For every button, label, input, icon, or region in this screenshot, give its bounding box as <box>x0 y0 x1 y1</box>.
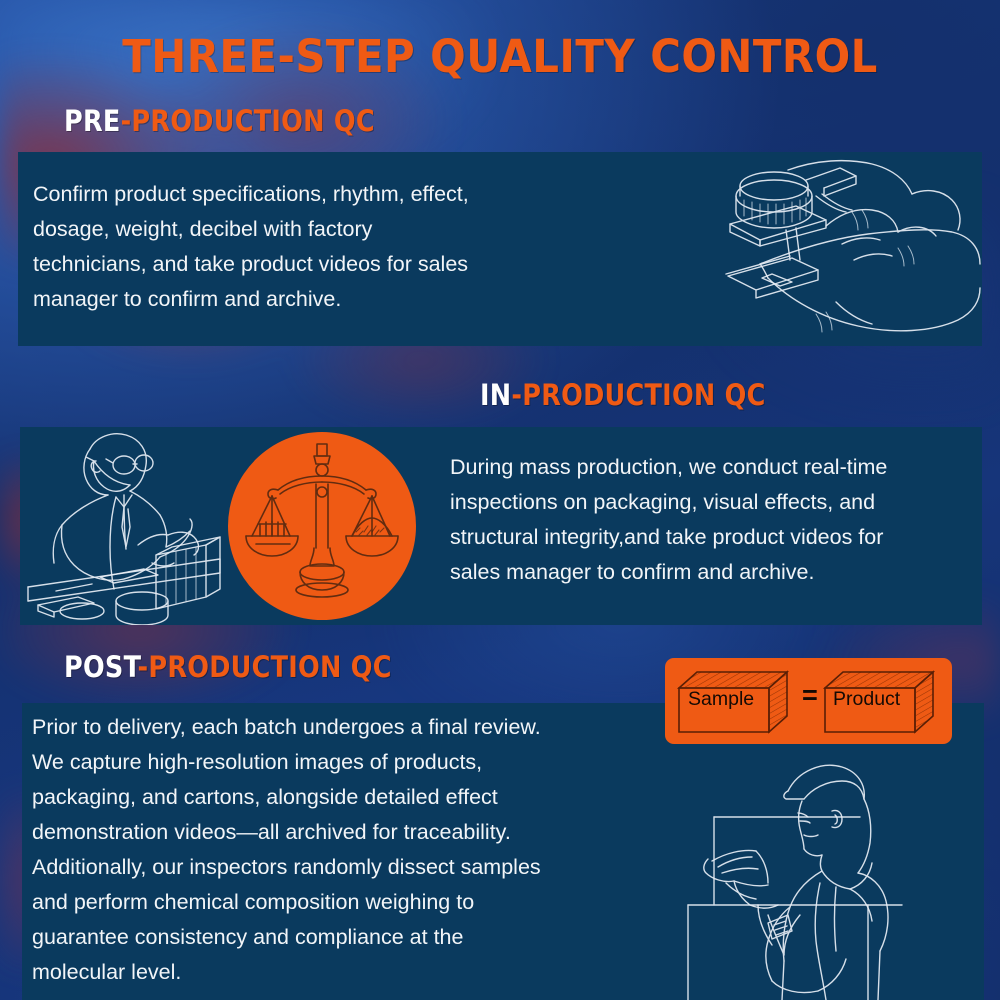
step-1-body-text: Confirm product specifications, rhythm, … <box>33 177 593 317</box>
step-1-heading-white: PRE <box>64 104 121 138</box>
step-3-heading: POST-PRODUCTION QC <box>64 650 392 684</box>
page-title: THREE-STEP QUALITY CONTROL <box>35 30 965 83</box>
step-2-heading: IN-PRODUCTION QC <box>480 378 766 412</box>
step-2-body-text: During mass production, we conduct real-… <box>450 450 980 590</box>
sample-equals-product-badge: Sample = Product <box>665 658 952 744</box>
inspector-reading-clipboard-icon <box>672 755 982 1000</box>
step-3-heading-white: POST <box>64 650 137 684</box>
worker-inspecting-table-icon <box>20 427 235 625</box>
step-2-heading-orange: -PRODUCTION QC <box>511 378 765 412</box>
step-3-heading-orange: -PRODUCTION QC <box>137 650 391 684</box>
product-box-label: Product <box>833 688 900 711</box>
balance-scale-badge <box>228 432 416 620</box>
step-1-heading-orange: -PRODUCTION QC <box>121 104 375 138</box>
balance-scale-icon <box>228 432 416 620</box>
hand-holding-device-icon <box>640 152 982 346</box>
step-1-heading: PRE-PRODUCTION QC <box>64 104 375 138</box>
step-2-heading-white: IN <box>480 378 511 412</box>
infographic-canvas: THREE-STEP QUALITY CONTROL PRE-PRODUCTIO… <box>0 0 1000 1000</box>
step-3-body-text: Prior to delivery, each batch undergoes … <box>32 710 662 990</box>
equals-operator: = <box>802 680 818 711</box>
sample-box-label: Sample <box>688 688 754 711</box>
